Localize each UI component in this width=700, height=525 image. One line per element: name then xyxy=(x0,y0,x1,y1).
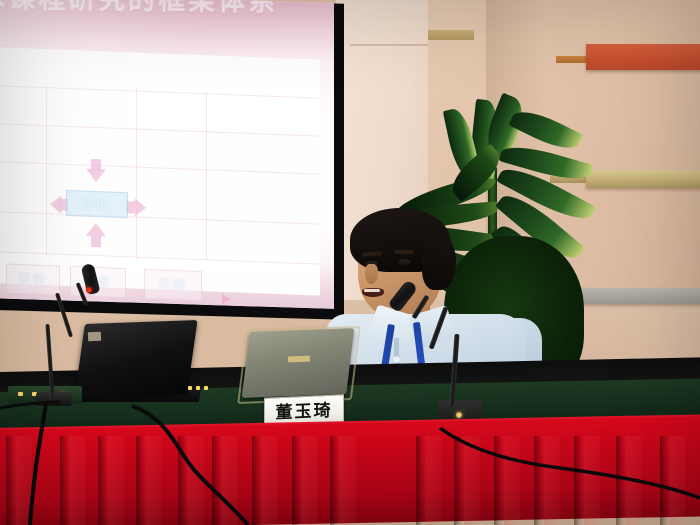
tablecloth-pleat-highlight xyxy=(222,436,238,525)
tablecloth-pleat-highlight xyxy=(70,436,86,525)
tablecloth-pleat xyxy=(616,436,626,525)
laptop-black-logo xyxy=(88,332,101,342)
tablecloth-pleat-highlight xyxy=(464,436,480,525)
tablecloth-pleat xyxy=(178,436,188,525)
laptop-grey-bezel xyxy=(237,326,361,404)
microphone-right-led xyxy=(456,412,462,418)
tablecloth-pleat xyxy=(98,436,108,525)
tablecloth-pleat-highlight xyxy=(188,436,204,525)
slide-arrow-down-icon xyxy=(86,169,106,183)
tablecloth-pleat xyxy=(60,436,70,525)
wall-decor-strip-red xyxy=(586,44,700,70)
slide-grid-line xyxy=(46,85,47,255)
tablecloth-pleat xyxy=(292,436,302,525)
tablecloth-pleat-highlight xyxy=(340,436,356,525)
tablecloth-pleat-highlight xyxy=(544,436,560,525)
tablecloth-pleat xyxy=(6,436,16,525)
slide-grid-line xyxy=(0,251,320,264)
slide-arrow-up-icon xyxy=(86,223,106,237)
tablecloth-pleat-highlight xyxy=(302,436,318,525)
control-unit-led xyxy=(204,386,208,390)
speaker-eyebrow xyxy=(394,250,414,255)
tablecloth-pleat-highlight xyxy=(146,436,162,525)
microphone-left-led xyxy=(86,287,92,293)
tablecloth-pleat-highlight xyxy=(108,436,124,525)
speaker-shirt-button xyxy=(393,356,400,363)
tablecloth-pleat-highlight xyxy=(16,436,32,525)
tablecloth-pleat xyxy=(330,436,340,525)
tablecloth-pleat xyxy=(416,436,426,525)
projection-screen: 术课程研究的框架体系 评价 评价 内容 反馈 xyxy=(0,0,334,309)
slide-bullet-triangle-icon xyxy=(222,294,231,304)
slide-center-box-label: 评价 xyxy=(68,193,124,214)
speaker-teeth xyxy=(364,289,380,292)
control-unit-led xyxy=(196,386,200,390)
slide-bottom-box-label: 评价 xyxy=(6,268,58,292)
tablecloth-pleat xyxy=(212,436,222,525)
conference-photo-scene: 术课程研究的框架体系 评价 评价 内容 反馈 xyxy=(0,0,700,525)
tablecloth-pleat-highlight xyxy=(426,436,442,525)
tablecloth-pleat xyxy=(494,436,504,525)
tablecloth-pleat-highlight xyxy=(504,436,520,525)
slide-arrow-right-icon xyxy=(135,199,146,217)
laptop-grey-logo xyxy=(288,356,310,363)
slide-bottom-box-label: 反馈 xyxy=(144,273,200,297)
slide-content-area: 评价 评价 内容 反馈 xyxy=(0,47,320,295)
wall-decor-strip-red-tail xyxy=(556,56,590,63)
tablecloth-pleat xyxy=(136,436,146,525)
slide-grid-line xyxy=(0,123,320,136)
slide-grid-line xyxy=(0,85,320,98)
speaker-nose xyxy=(365,264,378,284)
tablecloth-pleat xyxy=(252,436,262,525)
wall-decor-strip-grey xyxy=(574,288,700,304)
wall-decor-strip-gold xyxy=(586,170,700,188)
control-unit-led xyxy=(188,386,192,390)
slide-grid-line xyxy=(0,161,320,174)
slide-arrow-up-stem xyxy=(91,235,101,247)
speaker-hair-side xyxy=(422,232,456,290)
tablecloth-pleat xyxy=(534,436,544,525)
control-unit-led xyxy=(18,392,23,396)
tablecloth-pleat-highlight xyxy=(584,436,600,525)
wall-decor-strip-gold-upper xyxy=(428,30,474,40)
slide-grid-line xyxy=(0,211,320,224)
tablecloth-pleat xyxy=(574,436,584,525)
speaker-eye xyxy=(398,259,411,265)
tablecloth-pleat-highlight xyxy=(262,436,278,525)
slide-grid-line xyxy=(136,89,137,259)
tablecloth-pleat xyxy=(454,436,464,525)
slide-grid-line xyxy=(206,91,207,261)
tablecloth-pleat-highlight xyxy=(670,436,686,525)
tablecloth-pleat xyxy=(660,436,670,525)
tablecloth-pleat-highlight xyxy=(626,436,642,525)
wall-panel-seam xyxy=(350,44,428,46)
slide-arrow-left-icon xyxy=(50,195,61,213)
